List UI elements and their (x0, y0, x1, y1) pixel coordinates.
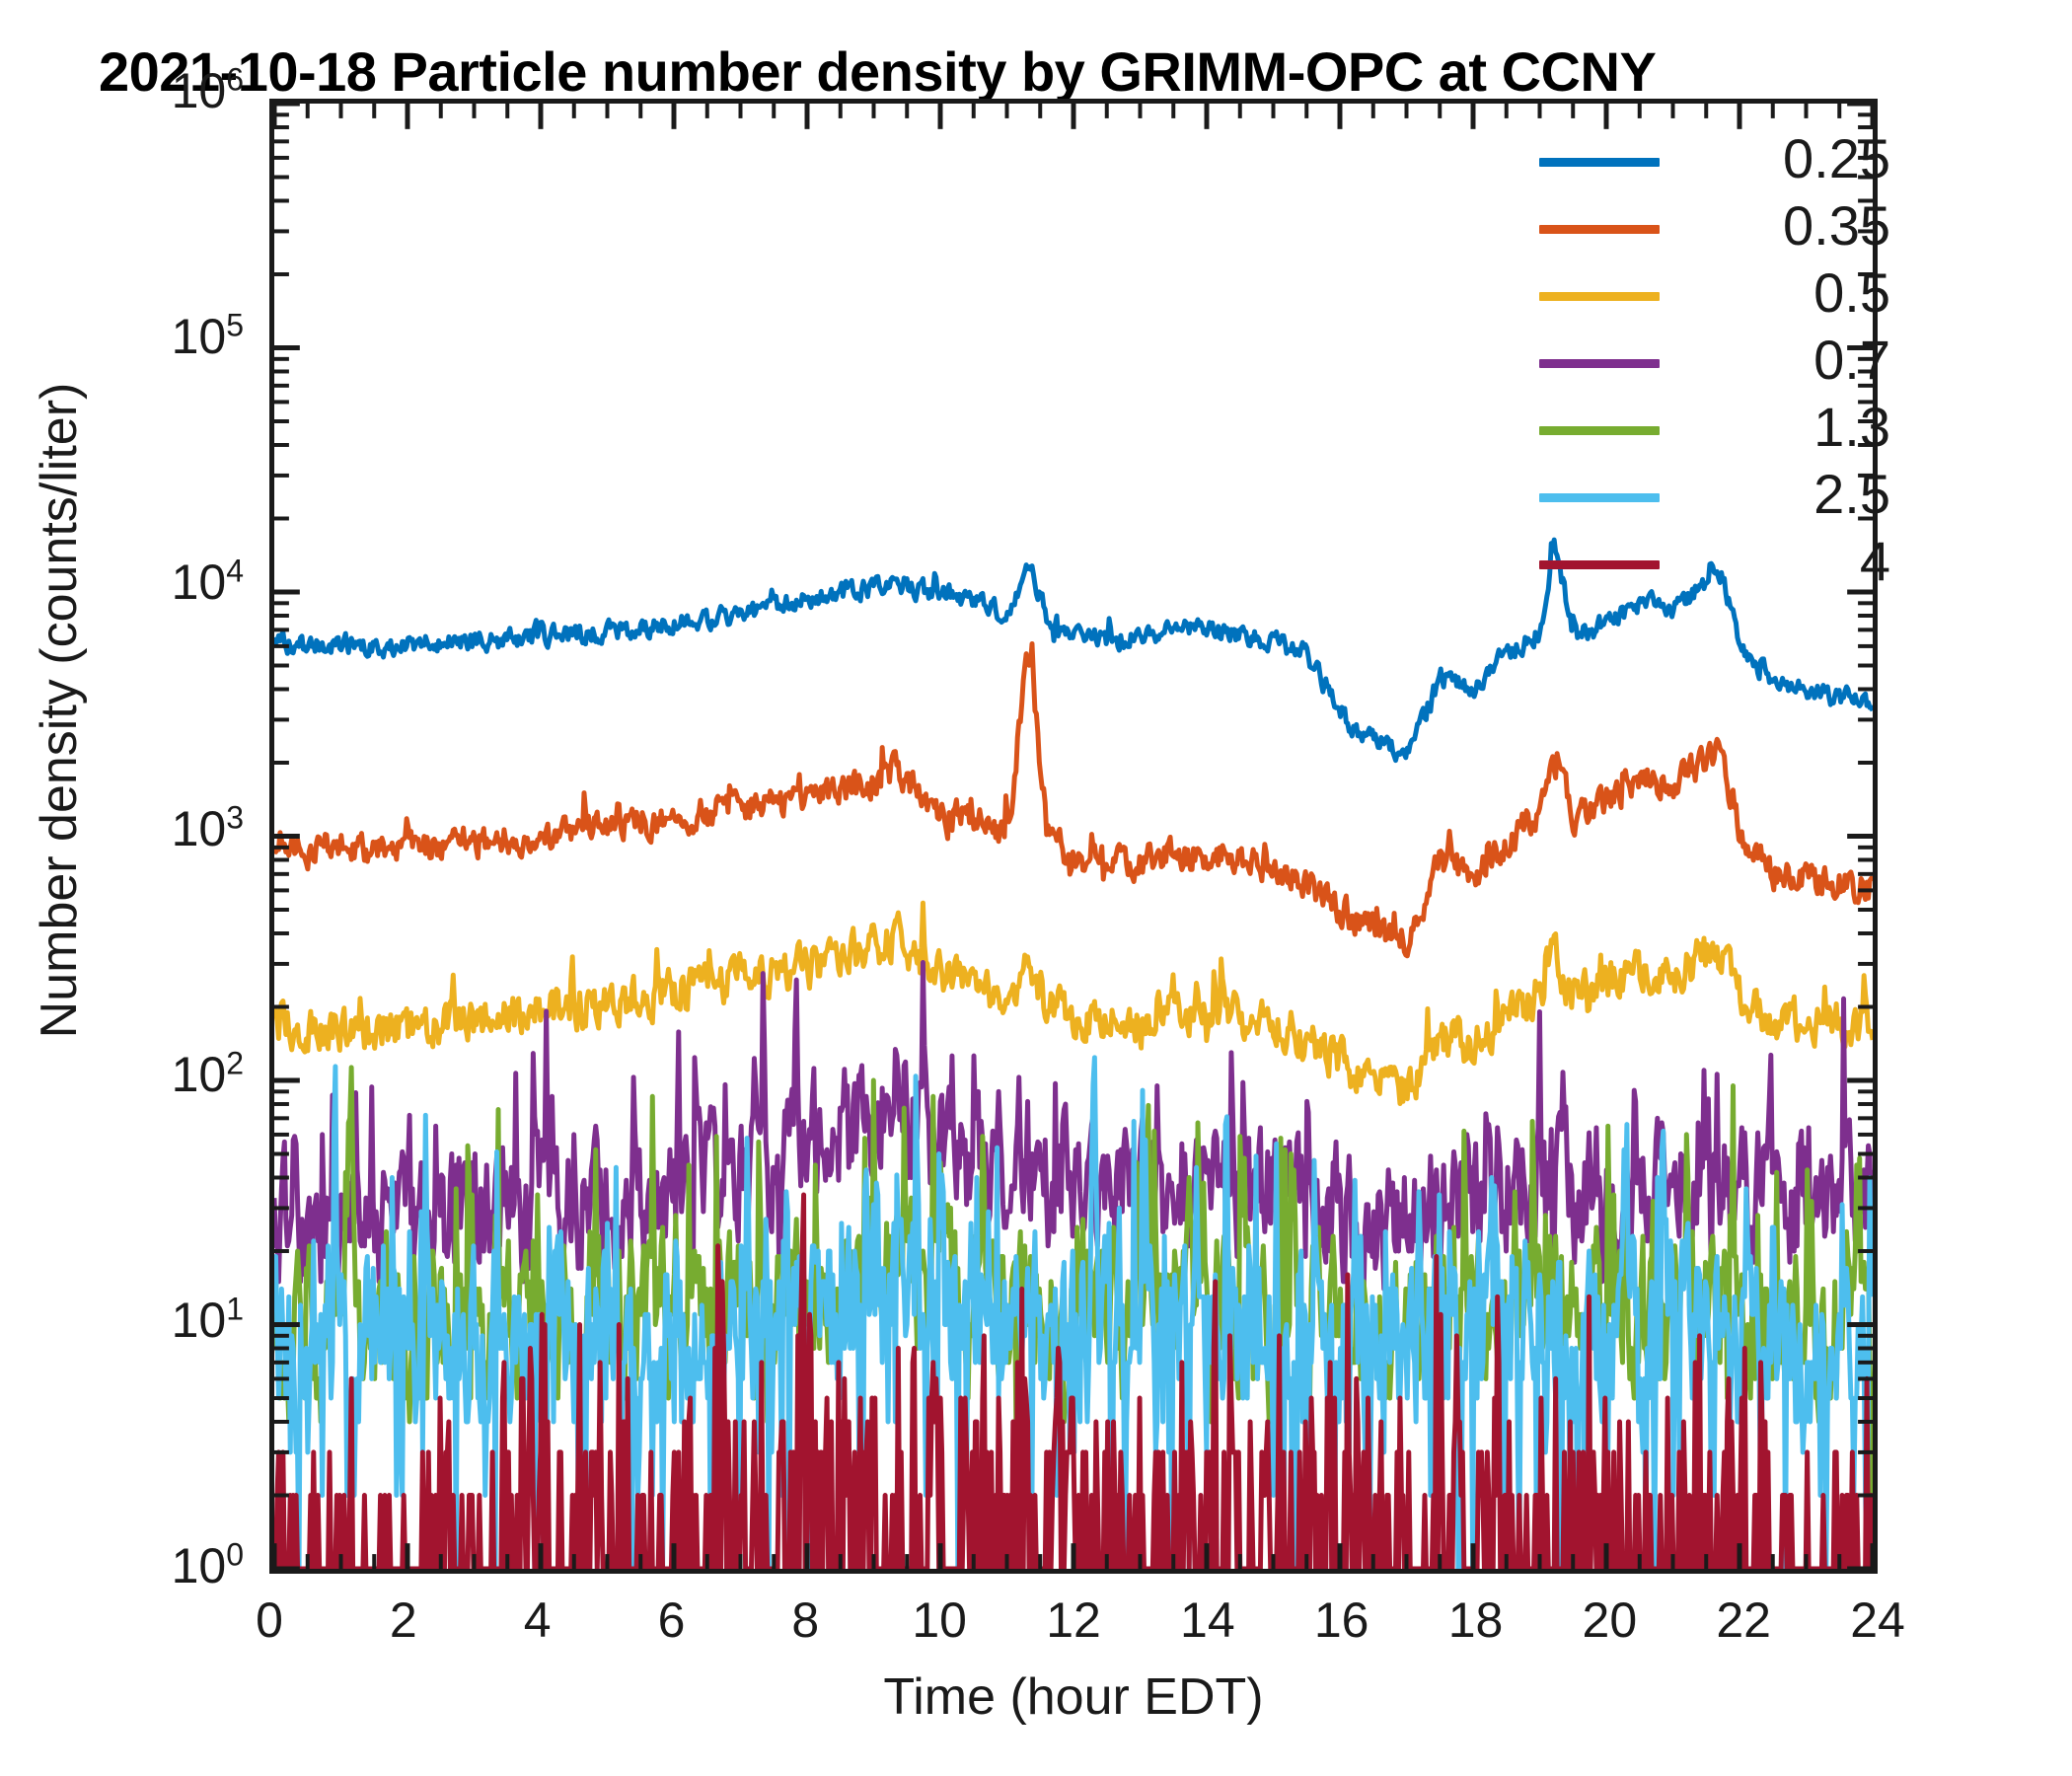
legend-swatch-0.25 (1539, 158, 1660, 167)
legend-swatch-1.3 (1539, 426, 1660, 435)
y-tick-label-10^2: 102 (172, 1046, 244, 1103)
figure-canvas: 2021-10-18 Particle number density by GR… (0, 0, 2072, 1776)
legend-item-0.5[interactable]: 0.5 (1539, 262, 1875, 330)
y-axis-title: Number density (counts/liter) (30, 266, 89, 1154)
series-line-0.35 (274, 643, 1873, 955)
x-axis-title: Time (hour EDT) (269, 1667, 1878, 1727)
x-tick-label-14: 14 (1180, 1591, 1235, 1649)
x-tick-label-0: 0 (256, 1591, 283, 1649)
y-tick-label-10^6: 106 (172, 62, 244, 119)
x-tick-label-24: 24 (1850, 1591, 1905, 1649)
x-tick-label-20: 20 (1583, 1591, 1638, 1649)
x-tick-label-10: 10 (912, 1591, 967, 1649)
page-title: 2021-10-18 Particle number density by GR… (99, 39, 2033, 104)
legend-swatch-0.7 (1539, 359, 1660, 368)
x-tick-label-22: 22 (1716, 1591, 1771, 1649)
chart-legend: 0.250.350.50.71.32.54 (1539, 128, 1875, 598)
legend-item-0.7[interactable]: 0.7 (1539, 330, 1875, 397)
x-tick-label-18: 18 (1448, 1591, 1504, 1649)
legend-label-4: 4 (1673, 529, 1890, 593)
x-tick-label-12: 12 (1046, 1591, 1101, 1649)
legend-item-4[interactable]: 4 (1539, 531, 1875, 598)
y-tick-label-10^0: 100 (172, 1537, 244, 1594)
x-tick-label-8: 8 (791, 1591, 819, 1649)
x-tick-label-6: 6 (658, 1591, 686, 1649)
legend-swatch-0.35 (1539, 225, 1660, 234)
legend-swatch-2.5 (1539, 493, 1660, 502)
legend-label-0.7: 0.7 (1673, 328, 1890, 392)
legend-label-0.25: 0.25 (1673, 126, 1890, 190)
legend-swatch-4 (1539, 560, 1660, 569)
legend-item-0.35[interactable]: 0.35 (1539, 195, 1875, 262)
y-tick-label-10^1: 101 (172, 1292, 244, 1349)
legend-item-0.25[interactable]: 0.25 (1539, 128, 1875, 195)
legend-label-1.3: 1.3 (1673, 395, 1890, 459)
legend-label-0.35: 0.35 (1673, 193, 1890, 258)
legend-swatch-0.5 (1539, 292, 1660, 301)
legend-item-1.3[interactable]: 1.3 (1539, 397, 1875, 464)
x-tick-label-4: 4 (524, 1591, 552, 1649)
y-tick-label-10^5: 105 (172, 308, 244, 365)
x-tick-label-16: 16 (1314, 1591, 1369, 1649)
legend-label-2.5: 2.5 (1673, 462, 1890, 526)
y-tick-label-10^3: 103 (172, 800, 244, 857)
legend-label-0.5: 0.5 (1673, 260, 1890, 325)
y-tick-label-10^4: 104 (172, 554, 244, 611)
x-tick-label-2: 2 (390, 1591, 417, 1649)
legend-item-2.5[interactable]: 2.5 (1539, 464, 1875, 531)
